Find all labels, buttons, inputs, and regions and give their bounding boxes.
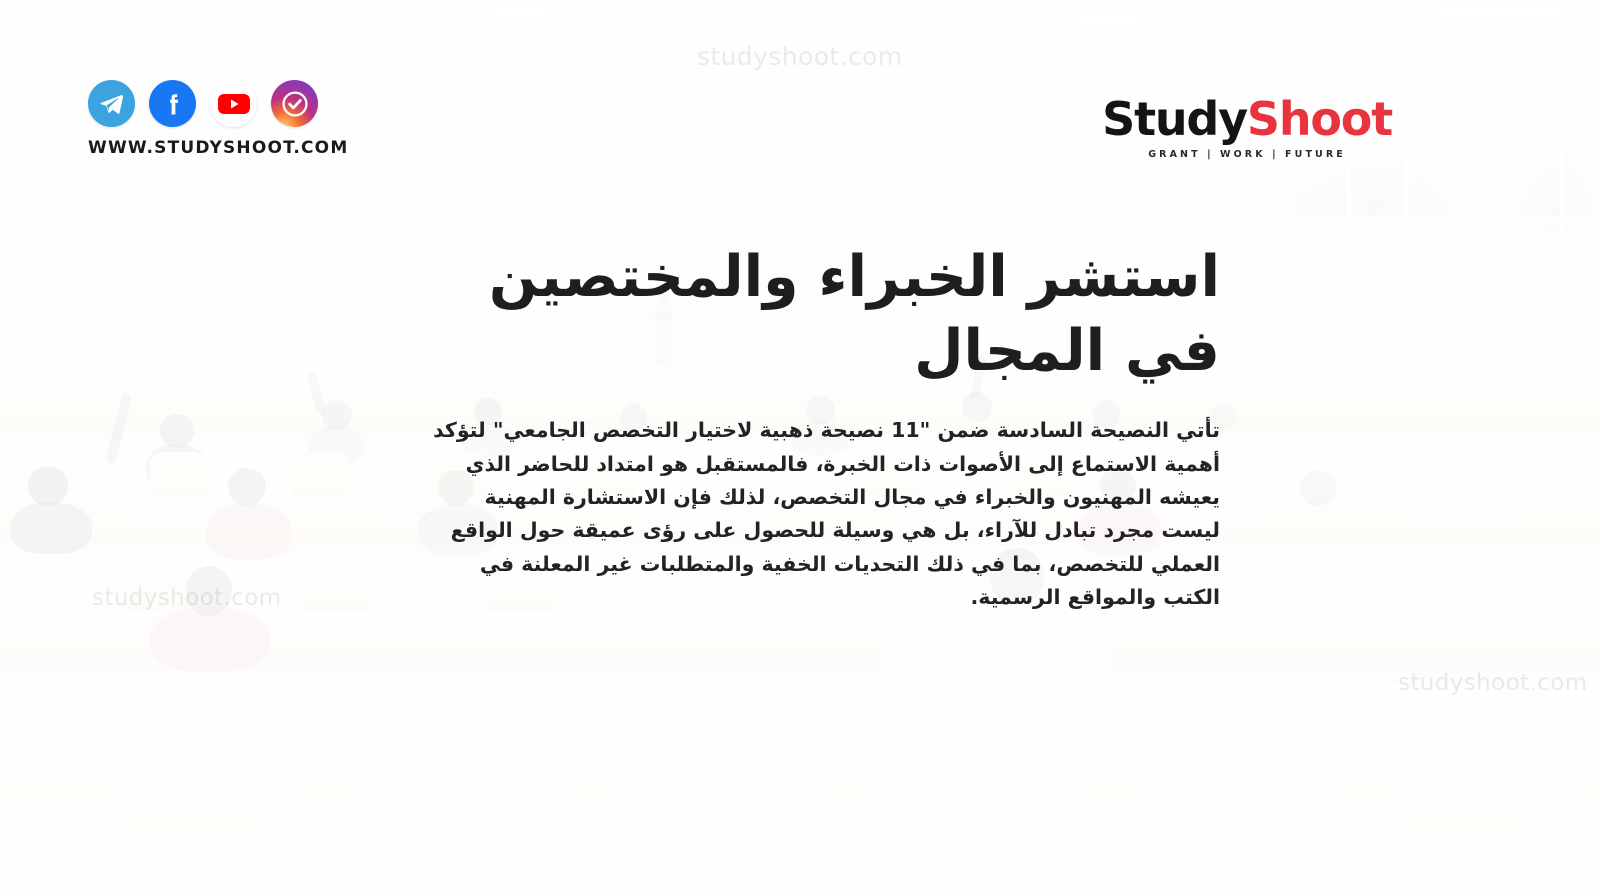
projector-icon <box>565 58 670 88</box>
chair <box>300 556 372 612</box>
chair <box>872 772 1080 896</box>
chair <box>615 772 823 896</box>
student-body <box>150 606 270 672</box>
student-head <box>160 414 194 448</box>
chair <box>112 778 312 896</box>
ceiling-light <box>1080 18 1135 24</box>
brand-logo: StudyShoot GRANT | WORK | FUTURE <box>1102 96 1392 160</box>
chair <box>1128 772 1336 896</box>
facebook-icon[interactable] <box>149 80 196 127</box>
watermark-top: studyshoot.com <box>697 42 903 71</box>
instagram-check-icon[interactable] <box>271 80 318 127</box>
slide-canvas: studyshoot.com studyshoot.com studyshoot… <box>0 0 1600 896</box>
ceiling-light <box>490 10 550 16</box>
ceiling-light <box>902 12 1032 18</box>
chair <box>1384 778 1584 896</box>
telegram-icon[interactable] <box>88 80 135 127</box>
ceiling-light <box>1330 20 1392 26</box>
brand-tagline: GRANT | WORK | FUTURE <box>1102 149 1392 160</box>
ceiling-light <box>1440 8 1560 14</box>
social-icon-row <box>88 80 348 127</box>
body-paragraph: تأتي النصيحة السادسة ضمن "11 نصيحة ذهبية… <box>430 414 1220 614</box>
ceiling-light <box>620 4 666 10</box>
watermark-right: studyshoot.com <box>1398 670 1588 696</box>
page-title: استشر الخبراء والمختصين في المجال <box>430 240 1220 388</box>
student-head <box>228 468 266 506</box>
chair <box>360 772 568 896</box>
watermark-left: studyshoot.com <box>92 585 282 611</box>
website-url[interactable]: WWW.STUDYSHOOT.COM <box>88 138 348 158</box>
social-block: WWW.STUDYSHOOT.COM <box>88 80 348 158</box>
projector-mount <box>614 0 619 62</box>
brand-wordmark: StudyShoot <box>1102 96 1392 142</box>
glass-panel <box>1240 216 1600 326</box>
student-body <box>206 504 292 560</box>
youtube-icon[interactable] <box>210 80 257 127</box>
brand-name-shoot: Shoot <box>1247 92 1392 146</box>
student-head <box>1300 470 1336 506</box>
student-head <box>28 466 68 506</box>
content-block: استشر الخبراء والمختصين في المجال تأتي ا… <box>430 240 1220 615</box>
chair <box>150 452 208 496</box>
brand-name-study: Study <box>1102 92 1247 146</box>
wall-speaker <box>355 75 399 130</box>
student-body <box>10 502 92 554</box>
chair <box>292 452 350 496</box>
